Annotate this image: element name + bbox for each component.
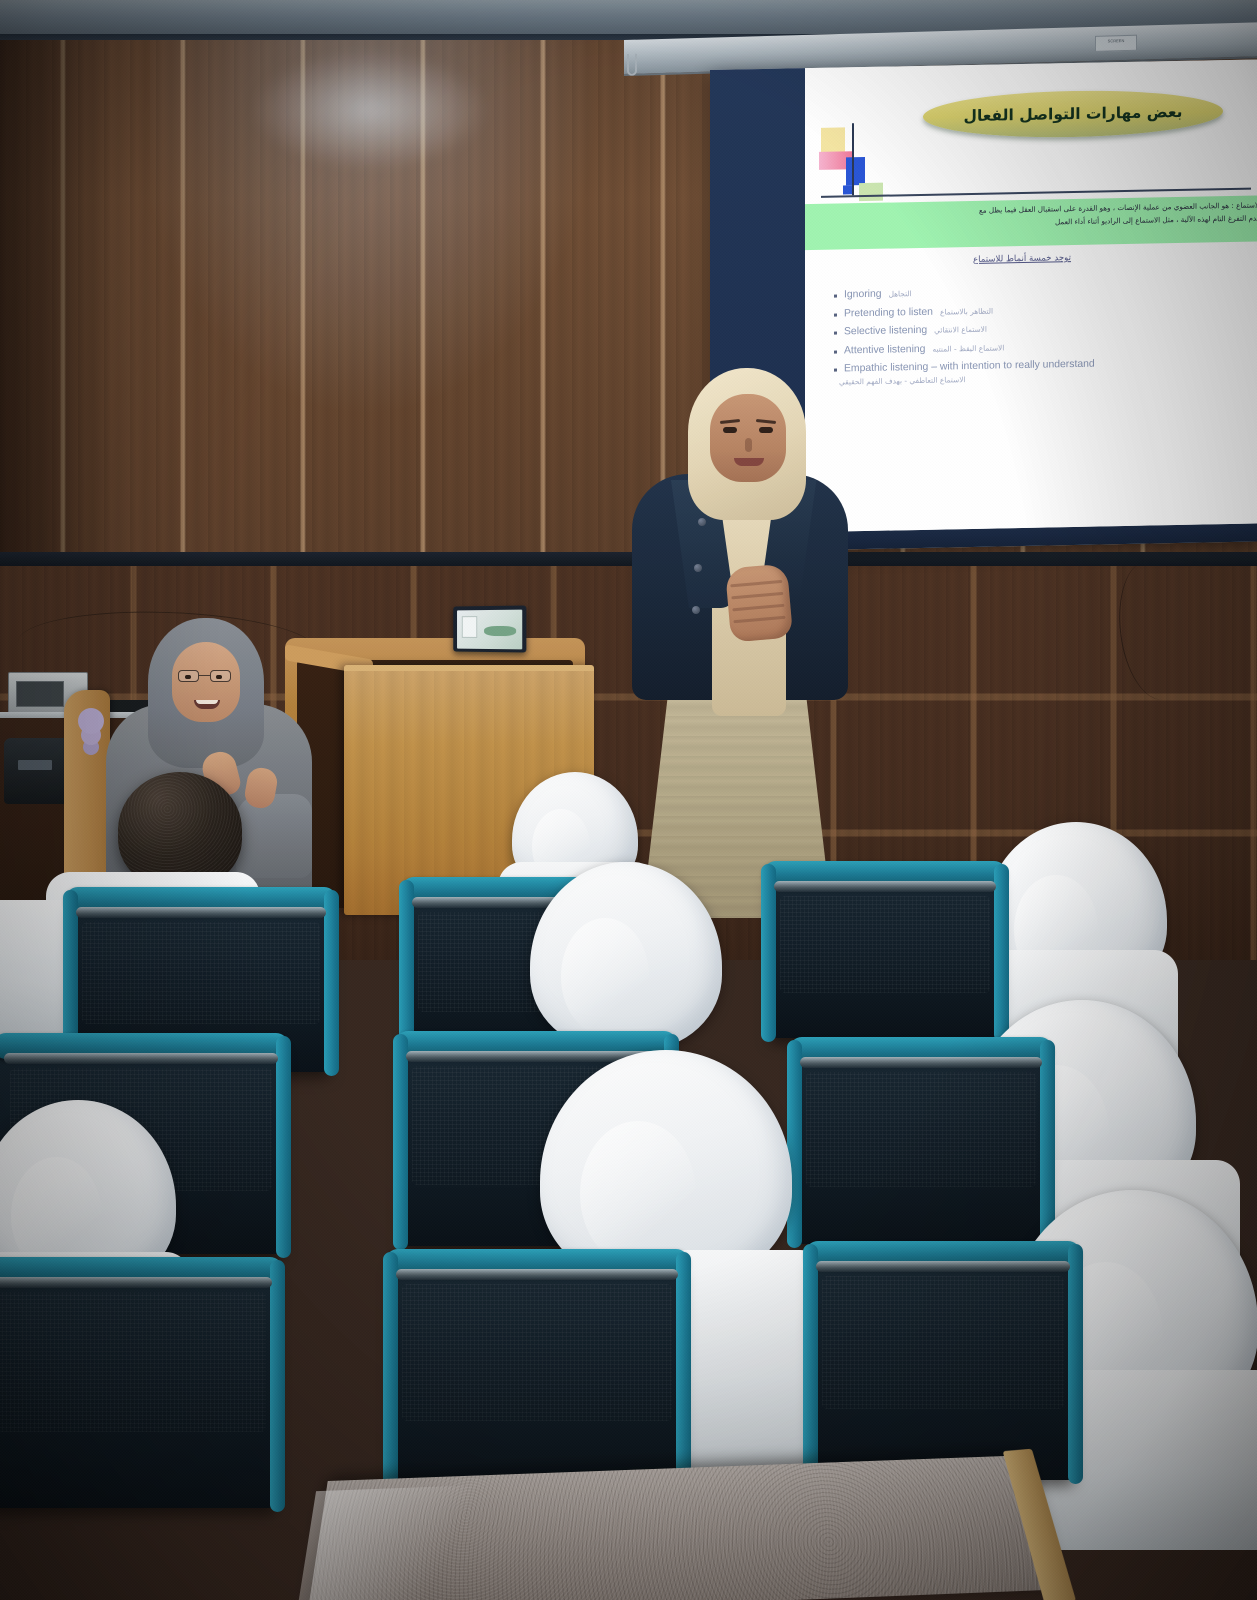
lecture-hall-photo: SCREEN بعض مهارات التواصل الفعال الاستما…: [0, 0, 1257, 1600]
deco-yellow-square: [821, 127, 845, 153]
facilitator-eye-right: [216, 675, 222, 679]
presenter-smile: [734, 458, 764, 466]
facilitator-smile: [194, 700, 220, 709]
chair-right-mid: [796, 1046, 1046, 1244]
screen-case-label: SCREEN: [1095, 35, 1137, 52]
bullet-ar-2: الاستماع الانتقائي: [934, 325, 987, 335]
slide-green-definition-box: الاستماع : هو الجانب العضوي من عملية الإ…: [805, 195, 1257, 250]
chair-side-right: [994, 864, 1009, 1042]
facilitator-eye-left: [185, 675, 191, 679]
presenter-eye-left: [723, 427, 737, 433]
finger-line-3: [732, 604, 784, 612]
equipment-display: [16, 681, 64, 707]
blazer-button-mid: [694, 564, 702, 572]
chair-side-left: [787, 1040, 802, 1248]
bullet-ar-0: التجاهل: [889, 289, 912, 298]
presenter-brow-left: [720, 419, 740, 424]
bullet-en-0: Ignoring: [844, 289, 882, 301]
eyeglass-bridge: [199, 675, 210, 676]
blazer-button-top: [698, 518, 706, 526]
bullet-ar-1: التظاهر بالاستماع: [940, 306, 993, 316]
list-item: Pretending to listen التظاهر بالاستماع: [833, 300, 1253, 319]
presenter-eye-right: [759, 427, 773, 433]
deco-blue-square: [846, 157, 865, 185]
finger-line-4: [733, 616, 785, 624]
audience-male-head: [118, 772, 242, 888]
chair-side-right: [276, 1036, 291, 1258]
finger-line-1: [730, 580, 782, 588]
chair-mesh-back: [402, 1284, 672, 1421]
table-light-glare: [291, 1484, 499, 1600]
deco-vertical-line: [852, 123, 854, 195]
chair-side-left: [803, 1244, 818, 1484]
slide-title-text: بعض مهارات التواصل الفعال: [964, 103, 1183, 125]
list-item: Selective listening الاستماع الانتقائي: [833, 319, 1253, 338]
chair-front-left: [0, 1266, 276, 1508]
list-item: Empathic listening – with intention to r…: [833, 356, 1253, 375]
chair-front-right: [812, 1250, 1074, 1480]
wall-lamp-reflection: [250, 50, 490, 170]
chair-mesh-back: [780, 896, 990, 993]
chair-side-left: [393, 1034, 408, 1250]
chair-front-center: [392, 1258, 682, 1494]
bullet-ar-3: الاستماع اليقظ - المنتبه: [932, 343, 1004, 353]
standing-presenter: [618, 368, 870, 928]
bullet-en-3: Attentive listening: [844, 343, 925, 356]
chair-side-right: [1040, 1040, 1055, 1248]
chair-side-right: [324, 890, 339, 1076]
list-item: Ignoring التجاهل: [833, 282, 1253, 301]
screen-case-bracket: [627, 54, 637, 76]
bullet-en-4: Empathic listening – with intention to r…: [844, 359, 1095, 375]
front-stone-table: [307, 1455, 1059, 1600]
deco-blue-small-square: [843, 185, 852, 194]
chair-side-left: [761, 864, 776, 1042]
presentation-slide: بعض مهارات التواصل الفعال الاستماع : هو …: [805, 59, 1257, 532]
presenter-nose: [745, 438, 752, 452]
slide-title-pill: بعض مهارات التواصل الفعال: [923, 88, 1223, 140]
list-item: Attentive listening الاستماع اليقظ - الم…: [833, 337, 1253, 356]
chair-side-right: [676, 1252, 691, 1498]
bullet-en-1: Pretending to listen: [844, 306, 933, 319]
laptop-on-lectern: [453, 605, 526, 652]
finger-line-2: [731, 592, 783, 600]
chair-side-right: [270, 1260, 285, 1512]
facilitator-sleeve: [236, 794, 312, 878]
laptop-screen-panel: [462, 616, 477, 638]
slide-bullet-list: Ignoring التجاهل Pretending to listen ال…: [833, 282, 1253, 383]
slide-decoration-icon: [819, 123, 881, 202]
bullet-en-2: Selective listening: [844, 325, 927, 338]
presenter-face: [710, 394, 786, 482]
blazer-button-low: [692, 606, 700, 614]
chair-back-right: [770, 870, 1000, 1038]
chair-mesh-back: [82, 922, 320, 1024]
chair-mesh-back: [822, 1276, 1064, 1409]
laptop-screen: [457, 610, 522, 650]
facilitator-face: [172, 642, 240, 722]
laptop-screen-graphic: [484, 626, 516, 636]
presenter-brow-right: [756, 419, 776, 424]
chair-ornament: [78, 708, 104, 734]
chair-side-right: [1068, 1244, 1083, 1484]
deco-green-square: [859, 183, 883, 201]
chair-side-left: [383, 1252, 398, 1498]
slide-subtitle: توجد خمسة أنماط للاستماع: [805, 250, 1239, 268]
chair-mesh-back: [806, 1072, 1036, 1187]
presenter-clasped-hands: [725, 563, 793, 642]
chair-mesh-back: [0, 1292, 266, 1432]
bag-label-tag: [18, 760, 52, 770]
